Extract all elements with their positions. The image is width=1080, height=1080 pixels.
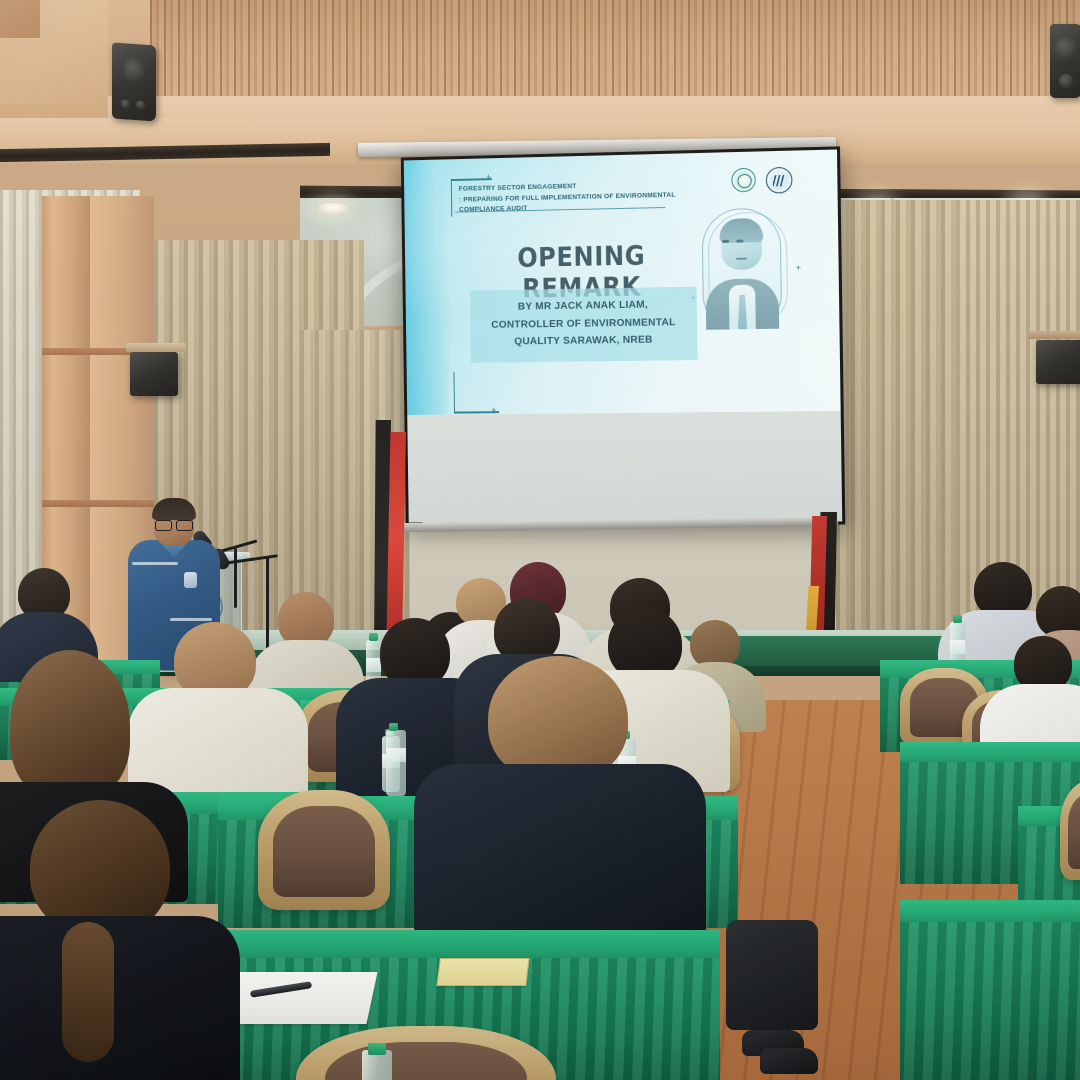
ceiling-downlight-1 (318, 203, 348, 214)
speaker-shirt-stripe-2 (170, 618, 212, 621)
portrait-eye-left (722, 240, 729, 243)
attendee-foreground-left (0, 800, 230, 1080)
shoe-right (760, 1048, 818, 1074)
water-bottle-5 (386, 730, 406, 796)
curtain-stage-right (836, 200, 956, 670)
chair-row3-c (1060, 780, 1080, 880)
chair-foreground (296, 1026, 556, 1080)
slide-corner-bracket-top (451, 179, 453, 217)
wall-speaker-right (1036, 340, 1080, 384)
table-foreground-right (900, 900, 1080, 1080)
wall-speaker-top-left (112, 42, 156, 121)
speaker-shirt-stripe-1 (132, 562, 178, 565)
presentation-slide: + + + + FORESTRY SECTOR ENGAGEMENT : PRE… (404, 149, 841, 415)
water-bottle-2 (950, 622, 965, 662)
wall-speaker-left (130, 352, 178, 396)
projection-screen[interactable]: + + + + FORESTRY SECTOR ENGAGEMENT : PRE… (401, 146, 846, 525)
portrait-mouth (736, 258, 747, 260)
wall-speaker-top-right (1050, 24, 1080, 98)
chair-row3-a (258, 790, 390, 910)
slide-plus-mark-right: + (796, 264, 802, 273)
portrait-eye-right (736, 240, 743, 243)
slide-corner-bracket-bottom (453, 372, 455, 414)
forestry-department-logo-icon (731, 168, 756, 193)
slide-byline-2: CONTROLLER OF ENVIRONMENTAL (476, 313, 691, 334)
slide-plus-mark-top: + (486, 173, 491, 182)
speaker-glasses-icon (155, 520, 193, 529)
speaker-hair (152, 498, 196, 520)
nreb-logo-icon (766, 167, 793, 194)
slide-byline-block: BY MR JACK ANAK LIAM, CONTROLLER OF ENVI… (470, 287, 698, 363)
water-bottle-6 (362, 1050, 392, 1080)
wood-slat-ceiling-panel-right (660, 0, 1080, 96)
ceiling-corner-shadow (0, 0, 40, 38)
slide-byline-3: QUALITY SARAWAK, NREB (476, 331, 691, 351)
black-backpack (726, 920, 818, 1030)
white-paper-sheet (216, 972, 377, 1024)
speaker-portrait-illustration (701, 207, 782, 329)
slide-footer-line2 (461, 376, 649, 388)
speaker-badge (184, 572, 197, 588)
attendee-row3-b (432, 656, 682, 916)
microphone-stem-1 (234, 548, 237, 608)
slide-footer-text (461, 367, 649, 388)
yellow-notepad (436, 958, 529, 986)
conference-hall-scene: + + + + FORESTRY SECTOR ENGAGEMENT : PRE… (0, 0, 1080, 1080)
slide-plus-mark-bottom: + (491, 406, 496, 415)
